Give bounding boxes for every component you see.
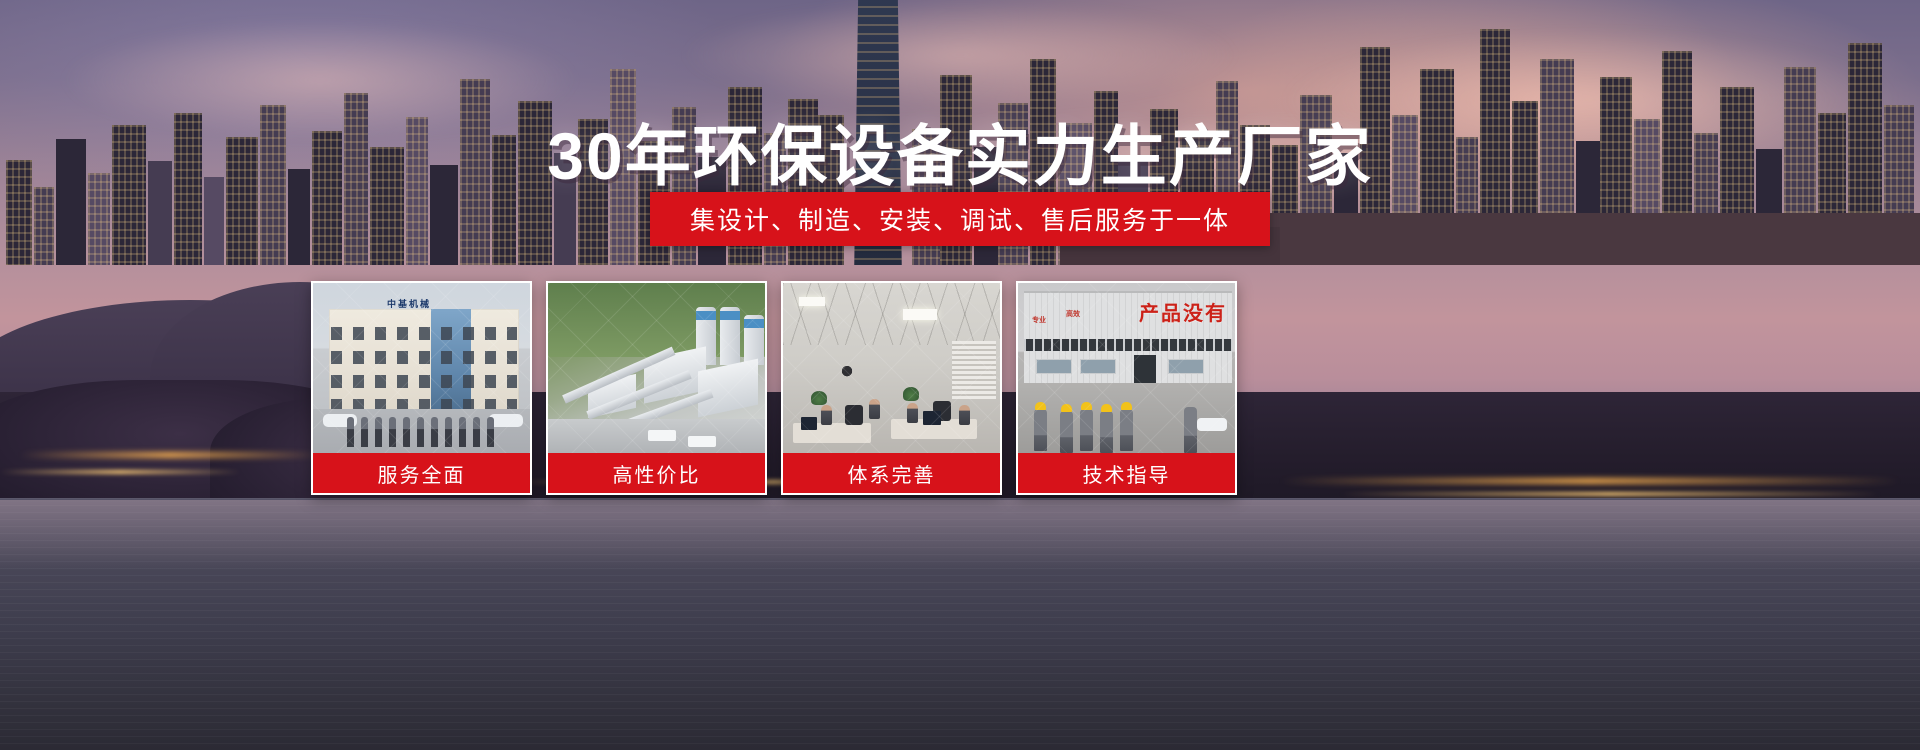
silo-tank bbox=[744, 315, 764, 365]
industrial-plant-aerial-photo bbox=[548, 283, 765, 453]
shore-light bbox=[1340, 492, 1880, 496]
truck bbox=[688, 436, 716, 447]
page-title: 30年环保设备实力生产厂家 bbox=[0, 103, 1920, 199]
staff-figure bbox=[417, 417, 424, 447]
shore-light bbox=[0, 470, 240, 474]
staff-figure bbox=[445, 417, 452, 447]
staff-figure bbox=[459, 417, 466, 447]
workshop-window bbox=[1080, 359, 1116, 374]
monitor bbox=[923, 411, 941, 425]
window-row bbox=[331, 375, 517, 388]
truck bbox=[648, 430, 676, 441]
hard-hat-icon bbox=[1101, 404, 1112, 412]
staff-figure bbox=[959, 405, 970, 425]
staff-figure bbox=[907, 403, 918, 423]
plant-building bbox=[698, 359, 758, 418]
parked-car bbox=[1197, 418, 1227, 431]
supervisor-figure bbox=[1184, 407, 1197, 453]
factory-workshop-photo: 产品没有 专业 高效 bbox=[1018, 283, 1235, 453]
workshop-slogan-text: 专业 bbox=[1032, 317, 1046, 325]
staff-figure bbox=[389, 417, 396, 447]
feature-card[interactable]: 产品没有 专业 高效 bbox=[1016, 281, 1237, 495]
staff-figure bbox=[869, 399, 880, 419]
feature-card-caption: 技术指导 bbox=[1018, 453, 1235, 493]
building-sign-text: 中基机械 bbox=[387, 297, 431, 310]
worker-figure bbox=[1034, 409, 1047, 451]
workshop-banner-text: 产品没有 bbox=[1139, 297, 1227, 326]
water-reflection bbox=[0, 500, 1920, 570]
feature-card[interactable]: 高性价比 bbox=[546, 281, 767, 495]
staff-figure bbox=[347, 417, 354, 447]
worker-figure bbox=[1100, 411, 1113, 453]
clerestory-windows bbox=[1024, 339, 1232, 351]
workshop-slogan-text: 高效 bbox=[1066, 311, 1080, 319]
shore-glow bbox=[20, 452, 320, 458]
staff-figure bbox=[361, 417, 368, 447]
hard-hat-icon bbox=[1035, 402, 1046, 410]
staff-figure bbox=[431, 417, 438, 447]
shore-glow bbox=[1280, 478, 1900, 484]
workshop-door bbox=[1134, 355, 1156, 385]
silo-tank bbox=[720, 307, 740, 365]
staff-figure bbox=[403, 417, 410, 447]
feature-card-caption: 体系完善 bbox=[783, 453, 1000, 493]
staff-figure bbox=[487, 417, 494, 447]
parked-car bbox=[489, 414, 523, 427]
feature-card-list: 中基机械 bbox=[311, 281, 1251, 495]
window-blinds bbox=[952, 341, 996, 399]
company-office-building-photo: 中基机械 bbox=[313, 283, 530, 453]
ceiling-light bbox=[799, 297, 825, 306]
subtitle-badge: 集设计、制造、安装、调试、售后服务于一体 bbox=[650, 192, 1270, 246]
staff-figure bbox=[375, 417, 382, 447]
hard-hat-icon bbox=[1081, 402, 1092, 410]
feature-card-caption: 服务全面 bbox=[313, 453, 530, 493]
feature-card[interactable]: 体系完善 bbox=[781, 281, 1002, 495]
window-row bbox=[331, 327, 517, 340]
wall-decal bbox=[835, 359, 859, 381]
feature-card-caption: 高性价比 bbox=[548, 453, 765, 493]
hard-hat-icon bbox=[1061, 404, 1072, 412]
workshop-window bbox=[1036, 359, 1072, 374]
workshop-window bbox=[1168, 359, 1204, 374]
waterfront-row bbox=[1260, 213, 1920, 265]
monitor bbox=[801, 417, 817, 430]
potted-plant bbox=[811, 391, 827, 405]
window-row bbox=[331, 351, 517, 364]
office-chair bbox=[845, 405, 863, 425]
worker-figure bbox=[1120, 409, 1133, 451]
office-ceiling bbox=[783, 283, 1000, 345]
worker-figure bbox=[1060, 411, 1073, 453]
office-interior-photo bbox=[783, 283, 1000, 453]
staff-figure bbox=[821, 405, 832, 425]
worker-figure bbox=[1080, 409, 1093, 451]
feature-card[interactable]: 中基机械 bbox=[311, 281, 532, 495]
promo-banner: 30年环保设备实力生产厂家 集设计、制造、安装、调试、售后服务于一体 中基机械 bbox=[0, 0, 1920, 750]
potted-plant bbox=[903, 387, 919, 401]
ceiling-light bbox=[903, 309, 937, 320]
staff-figure bbox=[473, 417, 480, 447]
hard-hat-icon bbox=[1121, 402, 1132, 410]
